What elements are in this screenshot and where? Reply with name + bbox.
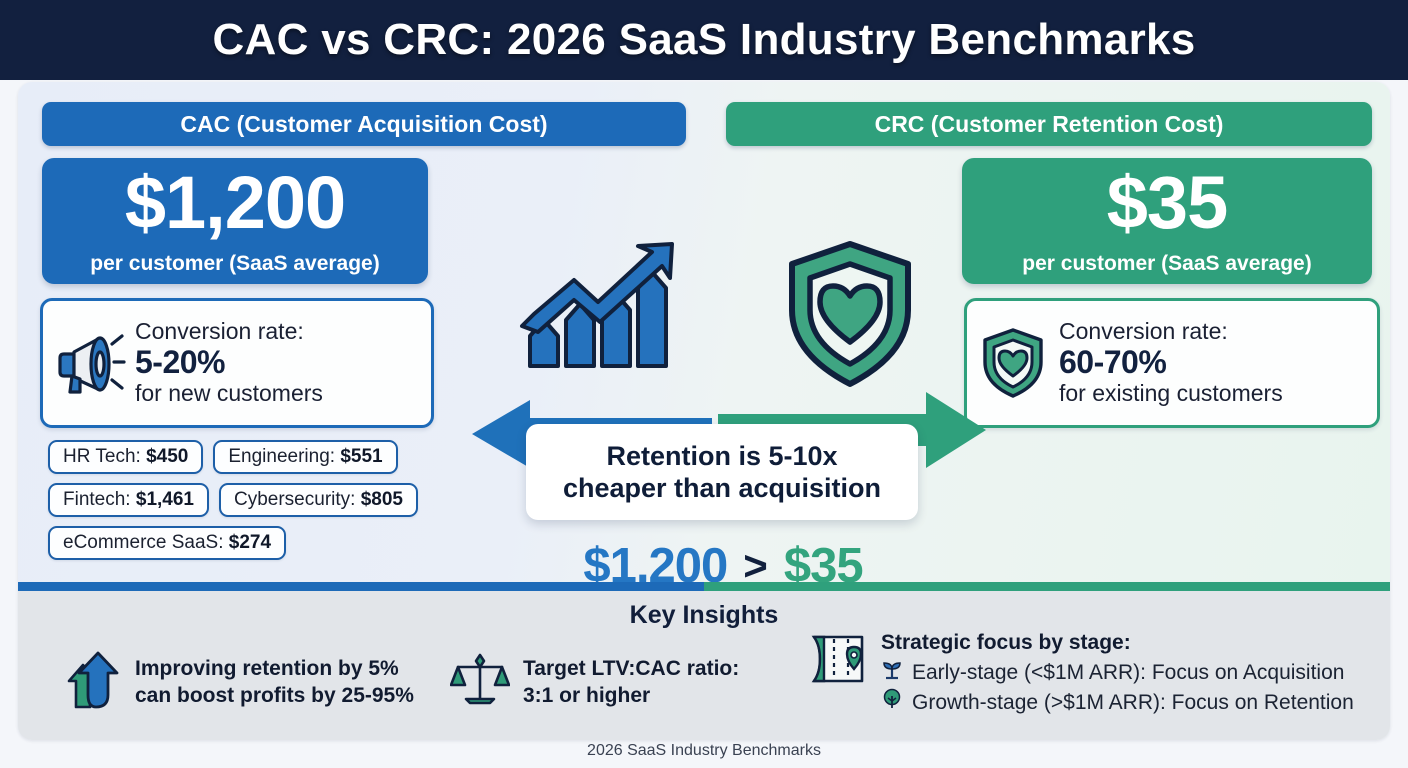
- cac-heading-pill: CAC (Customer Acquisition Cost): [42, 102, 686, 146]
- cac-value-card: $1,200 per customer (SaaS average): [42, 158, 428, 284]
- strategic-focus-growth-text: Growth-stage (>$1M ARR): Focus on Retent…: [912, 689, 1354, 717]
- cac-amount: $1,200: [125, 166, 345, 240]
- industry-tag: Engineering: $551: [213, 440, 397, 474]
- crc-heading-pill: CRC (Customer Retention Cost): [726, 102, 1372, 146]
- tree-icon: [881, 688, 903, 718]
- industry-tag: Cybersecurity: $805: [219, 483, 418, 517]
- crc-conversion-label: Conversion rate:: [1059, 319, 1283, 345]
- tag-row: eCommerce SaaS: $274: [48, 526, 478, 560]
- roadmap-icon: [808, 629, 868, 692]
- insight-ltv-line2: 3:1 or higher: [523, 683, 739, 709]
- content-board: CAC (Customer Acquisition Cost) $1,200 p…: [18, 82, 1390, 740]
- industry-tag-list: HR Tech: $450 Engineering: $551 Fintech:…: [48, 440, 478, 569]
- cac-conversion-card: Conversion rate: 5-20% for new customers: [40, 298, 434, 428]
- tag-row: Fintech: $1,461 Cybersecurity: $805: [48, 483, 478, 517]
- industry-tag-name: Engineering:: [228, 446, 335, 467]
- strategic-focus-heading: Strategic focus by stage:: [881, 629, 1354, 656]
- tag-row: HR Tech: $450 Engineering: $551: [48, 440, 478, 474]
- industry-tag-name: eCommerce SaaS:: [63, 532, 224, 553]
- infographic-canvas: CAC vs CRC: 2026 SaaS Industry Benchmark…: [0, 0, 1408, 768]
- key-insights-title: Key Insights: [18, 601, 1390, 630]
- section-divider: [18, 582, 1390, 591]
- strategic-focus-growth: Growth-stage (>$1M ARR): Focus on Retent…: [881, 688, 1354, 718]
- crc-amount-sub: per customer (SaaS average): [1022, 252, 1311, 276]
- industry-tag: eCommerce SaaS: $274: [48, 526, 286, 560]
- industry-tag-name: HR Tech:: [63, 446, 141, 467]
- insight-retention-line1: Improving retention by 5%: [135, 656, 414, 682]
- insight-ltv-text: Target LTV:CAC ratio: 3:1 or higher: [523, 656, 739, 709]
- strategic-focus-early: Early-stage (<$1M ARR): Focus on Acquisi…: [881, 658, 1354, 688]
- growth-chart-icon: [512, 240, 682, 390]
- cac-conversion-text: Conversion rate: 5-20% for new customers: [135, 319, 323, 406]
- industry-tag-value: $805: [361, 489, 403, 510]
- crc-conversion-text: Conversion rate: 60-70% for existing cus…: [1059, 319, 1283, 406]
- cac-conversion-note: for new customers: [135, 381, 323, 407]
- crc-conversion-note: for existing customers: [1059, 381, 1283, 407]
- insight-item-retention: Improving retention by 5% can boost prof…: [66, 651, 414, 714]
- divider-right: [704, 582, 1390, 591]
- industry-tag-value: $450: [146, 446, 188, 467]
- shield-heart-icon: [967, 326, 1059, 400]
- double-up-arrow-icon: [66, 651, 122, 714]
- industry-tag: Fintech: $1,461: [48, 483, 209, 517]
- header-bar: CAC vs CRC: 2026 SaaS Industry Benchmark…: [0, 0, 1408, 80]
- industry-tag-name: Fintech:: [63, 489, 131, 510]
- balance-scale-icon: [450, 651, 510, 714]
- callout-line-1: Retention is 5-10x: [606, 440, 837, 472]
- megaphone-icon: [43, 330, 135, 396]
- crc-value-card: $35 per customer (SaaS average): [962, 158, 1372, 284]
- industry-tag-name: Cybersecurity:: [234, 489, 355, 510]
- key-insights-section: Key Insights Improving retention by 5% c…: [18, 591, 1390, 740]
- cac-conversion-value: 5-20%: [135, 345, 323, 381]
- insight-item-ltv-ratio: Target LTV:CAC ratio: 3:1 or higher: [450, 651, 739, 714]
- divider-left: [18, 582, 704, 591]
- strategic-focus-text: Strategic focus by stage: Early-stage (<…: [881, 629, 1354, 719]
- retention-callout: Retention is 5-10x cheaper than acquisit…: [526, 424, 918, 520]
- crc-conversion-value: 60-70%: [1059, 345, 1283, 381]
- page-title: CAC vs CRC: 2026 SaaS Industry Benchmark…: [212, 15, 1195, 65]
- cac-conversion-label: Conversion rate:: [135, 319, 323, 345]
- insight-retention-text: Improving retention by 5% can boost prof…: [135, 656, 414, 709]
- crc-amount: $35: [1107, 166, 1227, 240]
- callout-line-2: cheaper than acquisition: [563, 472, 881, 504]
- industry-tag-value: $551: [340, 446, 382, 467]
- strategic-focus-early-text: Early-stage (<$1M ARR): Focus on Acquisi…: [912, 659, 1344, 687]
- industry-tag-value: $1,461: [136, 489, 194, 510]
- industry-tag: HR Tech: $450: [48, 440, 203, 474]
- cac-amount-sub: per customer (SaaS average): [90, 252, 379, 276]
- footer-caption: 2026 SaaS Industry Benchmarks: [0, 742, 1408, 760]
- shield-heart-icon: [780, 238, 920, 390]
- insight-ltv-line1: Target LTV:CAC ratio:: [523, 656, 739, 682]
- insight-item-strategic-focus: Strategic focus by stage: Early-stage (<…: [808, 629, 1354, 719]
- insight-retention-line2: can boost profits by 25-95%: [135, 683, 414, 709]
- seedling-icon: [881, 658, 903, 688]
- crc-conversion-card: Conversion rate: 60-70% for existing cus…: [964, 298, 1380, 428]
- industry-tag-value: $274: [229, 532, 271, 553]
